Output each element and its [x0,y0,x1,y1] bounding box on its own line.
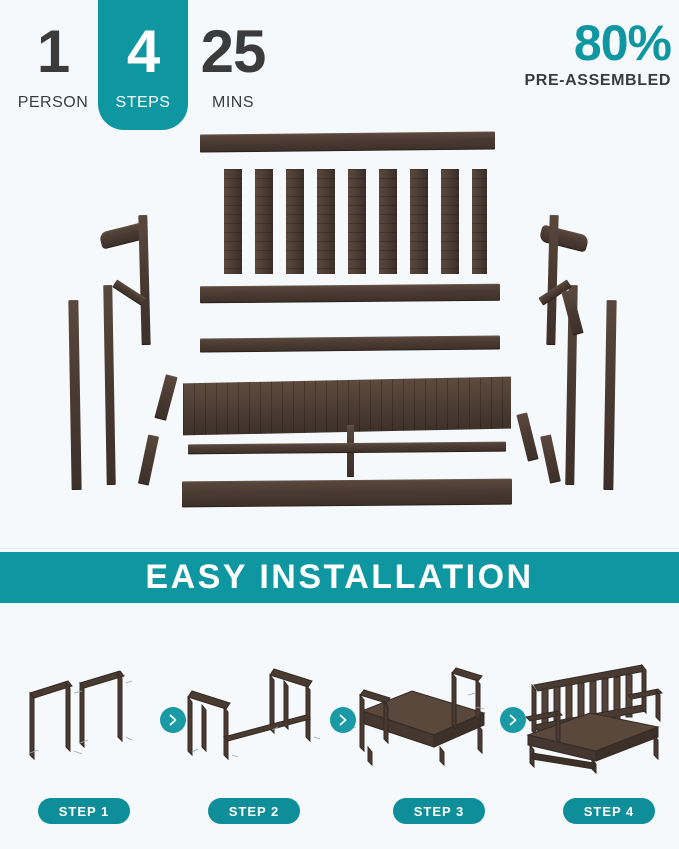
banner-divider [0,548,679,549]
part-brace-left-upper [154,374,177,421]
step-illustration-3 [348,655,498,775]
step-badge-4: STEP 4 [563,798,655,824]
part-front-leg-right [603,300,616,490]
banner-title: EASY INSTALLATION [145,558,533,597]
header-stats: 1 PERSON 4 STEPS 25 MINS 80% PRE-ASSEMBL… [0,0,679,130]
step-illustration-4 [518,655,668,775]
chevron-right-icon [338,714,348,726]
stat-person-number: 1 [37,22,69,82]
pre-assembled-label: PRE-ASSEMBLED [525,72,671,90]
part-back-post-left [138,215,150,345]
part-back-slat [410,169,428,274]
pre-assembled-stat: 80% PRE-ASSEMBLED [525,18,671,90]
step-illustration-1 [8,655,158,775]
stat-steps-label: STEPS [116,94,171,112]
part-back-slat [255,169,273,274]
part-back-slat [286,169,304,274]
step-arrow-2 [330,707,356,733]
easy-installation-banner: EASY INSTALLATION [0,552,679,603]
part-back-leg-left [103,285,115,485]
step-badge-3: STEP 3 [393,798,485,824]
chevron-right-icon [508,714,518,726]
part-back-slat [441,169,459,274]
part-brace-right-mid [540,434,561,483]
step-badge-1: STEP 1 [38,798,130,824]
part-back-slat [348,169,366,274]
chevron-right-icon [168,714,178,726]
stat-person-label: PERSON [18,94,89,112]
part-front-leg-left [68,300,81,490]
step-arrow-1 [160,707,186,733]
exploded-parts-diagram [0,125,679,540]
infographic-page: 1 PERSON 4 STEPS 25 MINS 80% PRE-ASSEMBL… [0,0,679,849]
step-badge-2: STEP 2 [208,798,300,824]
part-brace-right-upper [561,289,583,335]
stat-mins-label: MINS [212,94,254,112]
part-stretcher-rail [188,442,506,455]
part-top-back-rail [200,131,495,152]
stat-person: 1 PERSON [8,0,98,130]
part-back-rail-mid [200,335,500,352]
part-brace-right-lower [516,412,538,461]
part-armrest-right [539,224,590,252]
part-back-slat [379,169,397,274]
stat-mins-number: 25 [201,22,266,82]
part-back-slat [472,169,487,274]
step-illustration-2 [178,655,328,775]
part-back-slat [224,169,242,274]
part-back-slat [317,169,335,274]
part-front-apron [182,479,512,508]
stat-mins: 25 MINS [188,0,278,130]
step-arrow-3 [500,707,526,733]
stat-steps-number: 4 [127,22,159,82]
pre-assembled-percent: 80% [525,18,671,68]
part-back-rail-upper [200,284,500,304]
part-brace-left-lower [138,434,159,485]
stat-steps: 4 STEPS [98,0,188,130]
